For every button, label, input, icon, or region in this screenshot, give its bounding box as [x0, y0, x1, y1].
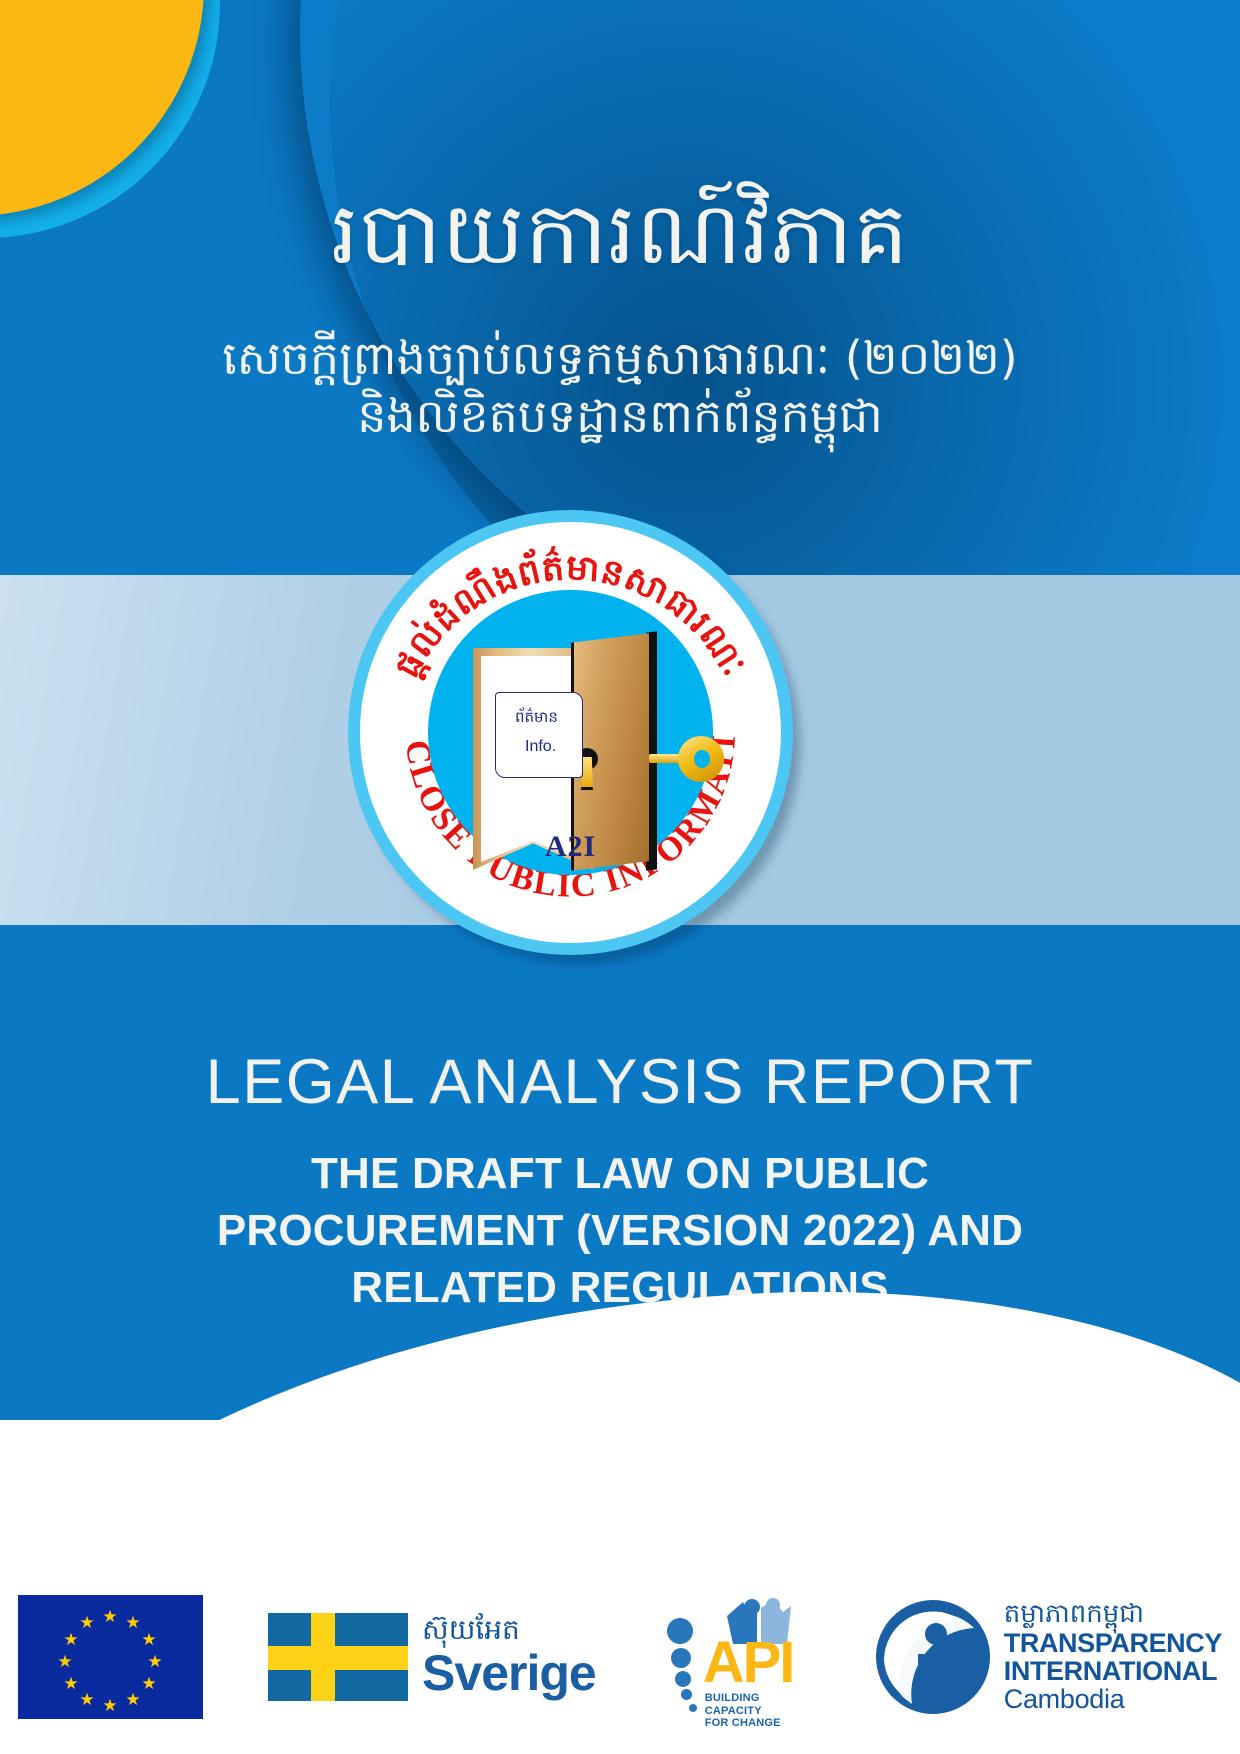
sweden-wordmark: ស៊ុយអែត Sverige: [422, 1616, 596, 1698]
transparency-international-wordmark: តម្លាភាពកម្ពុជា TRANSPARENCY INTERNATION…: [1004, 1601, 1222, 1713]
eu-star: ★: [79, 1615, 95, 1631]
emblem-acronym: A2I: [443, 830, 698, 864]
eu-star: ★: [141, 1676, 157, 1692]
eu-logo-slot: ★ ★ ★ ★ ★ ★ ★ ★ ★ ★ ★ ★: [18, 1595, 203, 1719]
api-tagline-line-1: BUILDING CAPACITY: [705, 1692, 809, 1717]
eu-star: ★: [147, 1654, 163, 1670]
report-subject-title: THE DRAFT LAW ON PUBLIC PROCUREMENT (VER…: [110, 1145, 1130, 1317]
api-dot: [675, 1671, 691, 1687]
open-door-illustration: ព័ត៌មាន Info. A2I: [443, 630, 698, 875]
eu-star: ★: [57, 1654, 73, 1670]
ti-line-2: INTERNATIONAL: [1004, 1658, 1222, 1686]
ti-line-3: Cambodia: [1004, 1686, 1222, 1714]
khmer-main-title: របាយការណ៍វិភាគ: [0, 188, 1240, 281]
report-type-heading: LEGAL ANALYSIS REPORT: [0, 1046, 1240, 1118]
api-dot: [681, 1689, 692, 1700]
ti-khmer-label: តម្លាភាពកម្ពុជា: [1004, 1601, 1222, 1628]
api-acronym: API: [703, 1634, 794, 1692]
eu-star: ★: [63, 1632, 79, 1648]
eu-star: ★: [102, 1609, 118, 1625]
cover-page: របាយការណ៍វិភាគ សេចក្ដីព្រាងច្បាប់លទ្ធកម្…: [0, 0, 1240, 1754]
api-logo-slot: API BUILDING CAPACITY FOR CHANGE: [661, 1598, 809, 1716]
paper-english-label: Info.: [525, 738, 556, 756]
report-title-line-2: PROCUREMENT (VERSION 2022) AND: [110, 1202, 1130, 1259]
sweden-khmer-label: ស៊ុយអែត: [422, 1616, 596, 1644]
sweden-cross-horizontal: [268, 1646, 408, 1670]
api-dot: [689, 1704, 697, 1712]
sweden-logo-slot: ស៊ុយអែត Sverige: [268, 1613, 596, 1701]
ti-line-1: TRANSPARENCY: [1004, 1630, 1222, 1658]
report-title-line-1: THE DRAFT LAW ON PUBLIC: [110, 1145, 1130, 1202]
eu-star: ★: [102, 1698, 118, 1714]
sweden-flag-icon: [268, 1613, 408, 1701]
key-icon-bow-hole: [694, 750, 710, 768]
khmer-subtitle: សេចក្ដីព្រាងច្បាប់លទ្ធកម្មសាធារណៈ (២០២២)…: [0, 330, 1240, 445]
transparency-international-icon: [874, 1598, 992, 1716]
paper-khmer-label: ព័ត៌មាន: [515, 708, 558, 730]
api-dots-decoration: [661, 1616, 707, 1702]
sweden-latin-label: Sverige: [422, 1648, 596, 1698]
partner-logos-footer: ★ ★ ★ ★ ★ ★ ★ ★ ★ ★ ★ ★ ស៊ុយអែត Sverige: [0, 1560, 1240, 1754]
eu-star: ★: [125, 1615, 141, 1631]
eu-star: ★: [79, 1692, 95, 1708]
api-tagline: BUILDING CAPACITY FOR CHANGE: [705, 1692, 809, 1730]
transparency-international-logo-slot: តម្លាភាពកម្ពុជា TRANSPARENCY INTERNATION…: [874, 1598, 1222, 1716]
api-dot: [671, 1648, 691, 1668]
eu-star: ★: [141, 1632, 157, 1648]
api-dot: [667, 1618, 693, 1644]
khmer-subtitle-line-2: និងលិខិតបទដ្ឋានពាក់ព័ន្ធកម្ពុជា: [0, 388, 1240, 446]
a2i-emblem: ផ្ដល់ដំណឹងព័ត៌មានសាធារណៈ DISCLOSE PUBLIC…: [348, 510, 813, 980]
eu-star: ★: [125, 1692, 141, 1708]
information-document-icon: ព័ត៌មាន Info.: [495, 692, 583, 778]
api-tagline-line-2: FOR CHANGE: [705, 1717, 809, 1730]
khmer-subtitle-line-1: សេចក្ដីព្រាងច្បាប់លទ្ធកម្មសាធារណៈ (២០២២): [0, 330, 1240, 388]
european-union-flag-icon: ★ ★ ★ ★ ★ ★ ★ ★ ★ ★ ★ ★: [18, 1595, 203, 1719]
paper-sheet-front: [495, 692, 583, 778]
eu-star: ★: [63, 1676, 79, 1692]
